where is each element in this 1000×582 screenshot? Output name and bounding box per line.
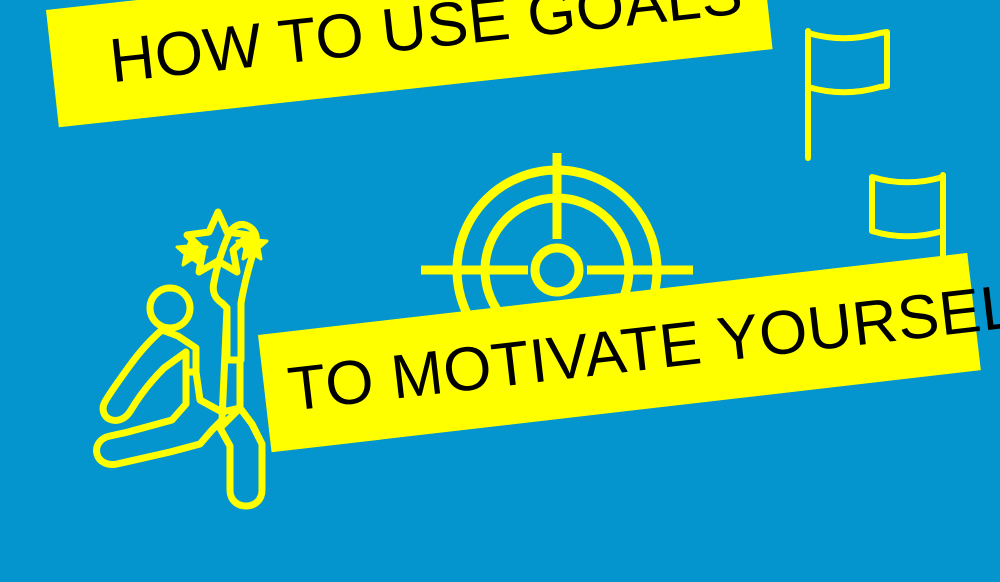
poster-canvas: HOW TO USE GOALS TO MOTIVATE YOURSELF [0,0,1000,582]
goal-flag-right-facing-icon [808,31,887,158]
